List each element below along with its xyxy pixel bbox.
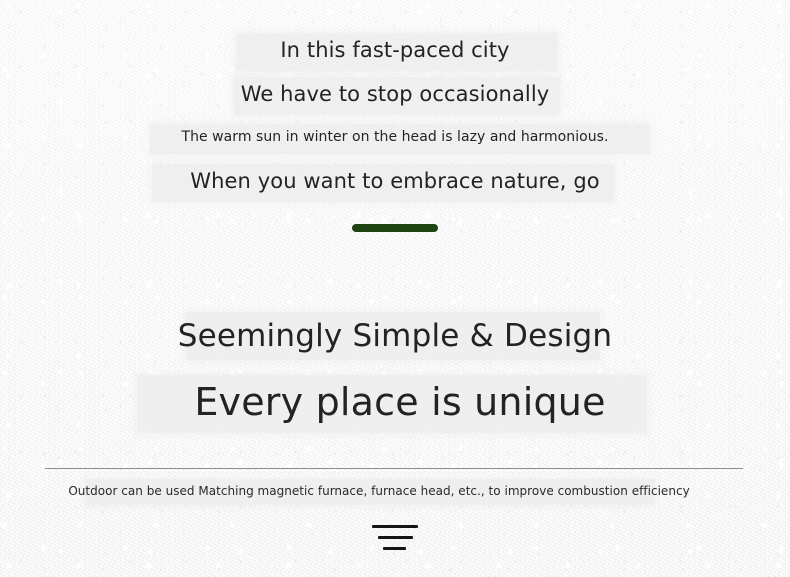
intro-line-2: We have to stop occasionally	[0, 82, 790, 106]
align-lines-icon	[372, 525, 418, 555]
headline-primary: Seemingly Simple & Design	[0, 318, 790, 354]
align-lines-icon-bar-3	[383, 547, 406, 550]
intro-line-3: The warm sun in winter on the head is la…	[0, 129, 790, 145]
align-lines-icon-bar-1	[372, 525, 418, 528]
page-background: In this fast-paced city We have to stop …	[0, 0, 790, 577]
green-divider	[352, 224, 438, 232]
footer-caption: Outdoor can be used Matching magnetic fu…	[0, 484, 758, 498]
headline-secondary: Every place is unique	[0, 380, 790, 424]
intro-line-1: In this fast-paced city	[0, 38, 790, 62]
footer-divider-rule	[45, 468, 743, 469]
align-lines-icon-bar-2	[378, 536, 413, 539]
intro-line-4: When you want to embrace nature, go	[0, 169, 790, 193]
